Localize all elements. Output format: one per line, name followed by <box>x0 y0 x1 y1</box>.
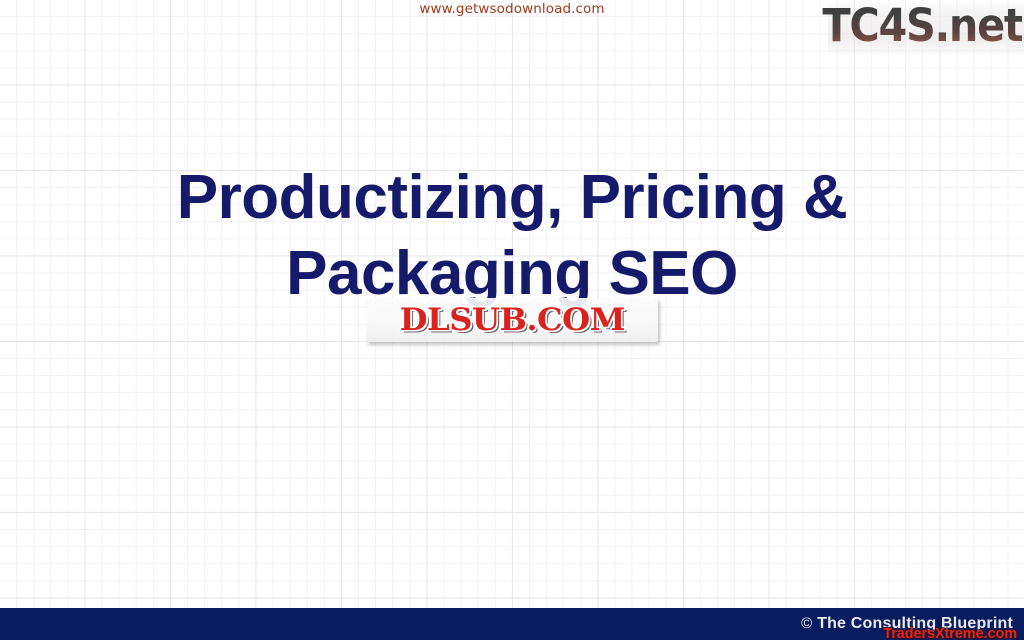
presentation-slide: www.getwsodownload.com TC4S.net Producti… <box>0 0 1024 640</box>
copyright-icon: © <box>801 615 812 632</box>
footer-site-watermark: TradersXtreme.com <box>883 626 1017 640</box>
page-title: Productizing, Pricing & Packaging SEO <box>62 160 962 312</box>
dlsub-watermark-badge: DLSUB.COM <box>366 298 658 342</box>
dlsub-watermark-text: DLSUB.COM <box>399 305 624 336</box>
page-title-line-1: Productizing, Pricing & <box>62 160 962 236</box>
brand-logo-panel: TC4S.net <box>828 0 1024 56</box>
footer-bar: © The Consulting Blueprint TradersXtreme… <box>0 608 1024 640</box>
tc4s-logo-text: TC4S.net <box>822 0 1022 54</box>
